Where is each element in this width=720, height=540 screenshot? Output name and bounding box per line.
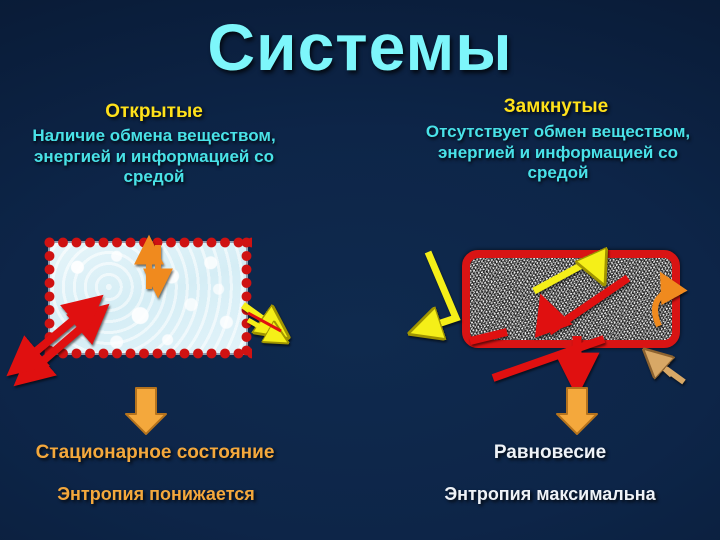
arrow-down-closed-conclusion (557, 388, 597, 434)
slide-canvas: Системы Открытые Наличие обмена вещество… (0, 0, 720, 540)
arrow-down-open-conclusion (126, 388, 166, 434)
open-box-border-top (44, 237, 252, 248)
arrow-yellow-exit-open (243, 305, 283, 340)
page-title: Системы (0, 14, 720, 80)
column-heading-open: Открытые (18, 102, 290, 122)
arrow-yellow-reflect-closed (417, 252, 456, 331)
column-description-open: Наличие обмена веществом, энергией и инф… (8, 126, 300, 188)
closed-system-box (462, 250, 680, 348)
conclusion-closed: Равновесие (400, 442, 700, 464)
conclusion-detail-closed: Энтропия максимальна (400, 484, 700, 506)
arrow-tan-outside-closed (649, 354, 684, 382)
open-system-box (50, 243, 246, 353)
column-heading-closed: Замкнутые (420, 97, 692, 117)
column-description-closed: Отсутствует обмен веществом, энергией и … (412, 122, 704, 184)
conclusion-detail-open: Энтропия понижается (20, 484, 292, 506)
conclusion-open: Стационарное состояние (0, 442, 310, 464)
open-box-border-left (44, 237, 55, 359)
open-box-border-right (241, 237, 252, 359)
open-box-border-bottom (44, 348, 252, 359)
